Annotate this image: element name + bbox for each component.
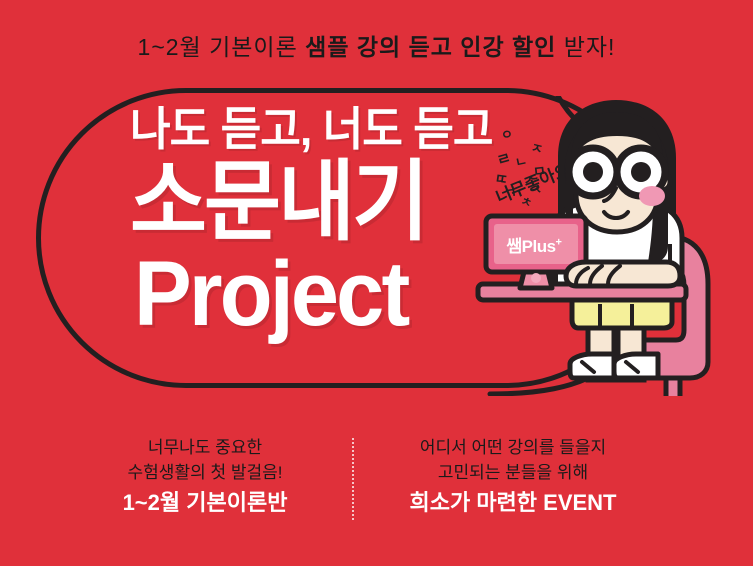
bottom-right-line-1: 어디서 어떤 강의를 들을지	[368, 436, 658, 461]
title-line-3: Project	[134, 248, 469, 340]
bottom-left-block: 너무나도 중요한 수험생활의 첫 발걸음! 1~2월 기본이론반	[70, 436, 340, 517]
title-line-2: 소문내기	[130, 158, 472, 246]
headline: 1~2월 기본이론 샘플 강의 듣고 인강 할인 받자!	[0, 28, 753, 62]
bottom-right-line-2: 고민되는 분들을 위해	[368, 461, 658, 486]
monitor-logo-text: 쌤Plus	[507, 237, 556, 256]
monitor-logo: 쌤Plus+	[492, 232, 576, 257]
title-block: 나도 듣고, 너도 듣고 소문내기 Project	[130, 106, 490, 340]
title-line-1: 나도 듣고, 너도 듣고	[130, 106, 476, 152]
monitor-logo-sup: +	[556, 236, 562, 248]
bottom-left-line-1: 너무나도 중요한	[70, 436, 340, 461]
bottom-right-emphasis: 희소가 마련한 EVENT	[368, 490, 658, 516]
promo-banner: 1~2월 기본이론 샘플 강의 듣고 인강 할인 받자! 나도 듣고, 너도 듣…	[0, 0, 753, 566]
bottom-right-block: 어디서 어떤 강의를 들을지 고민되는 분들을 위해 희소가 마련한 EVENT	[368, 436, 658, 517]
bottom-left-emphasis: 1~2월 기본이론반	[70, 490, 340, 516]
vertical-divider	[352, 438, 354, 520]
headline-part-3: 받자!	[556, 34, 615, 60]
headline-part-2: 샘플 강의 듣고 인강 할인	[305, 34, 556, 60]
headline-part-1: 1~2월 기본이론	[138, 34, 306, 60]
bottom-left-line-2: 수험생활의 첫 발걸음!	[70, 461, 340, 486]
